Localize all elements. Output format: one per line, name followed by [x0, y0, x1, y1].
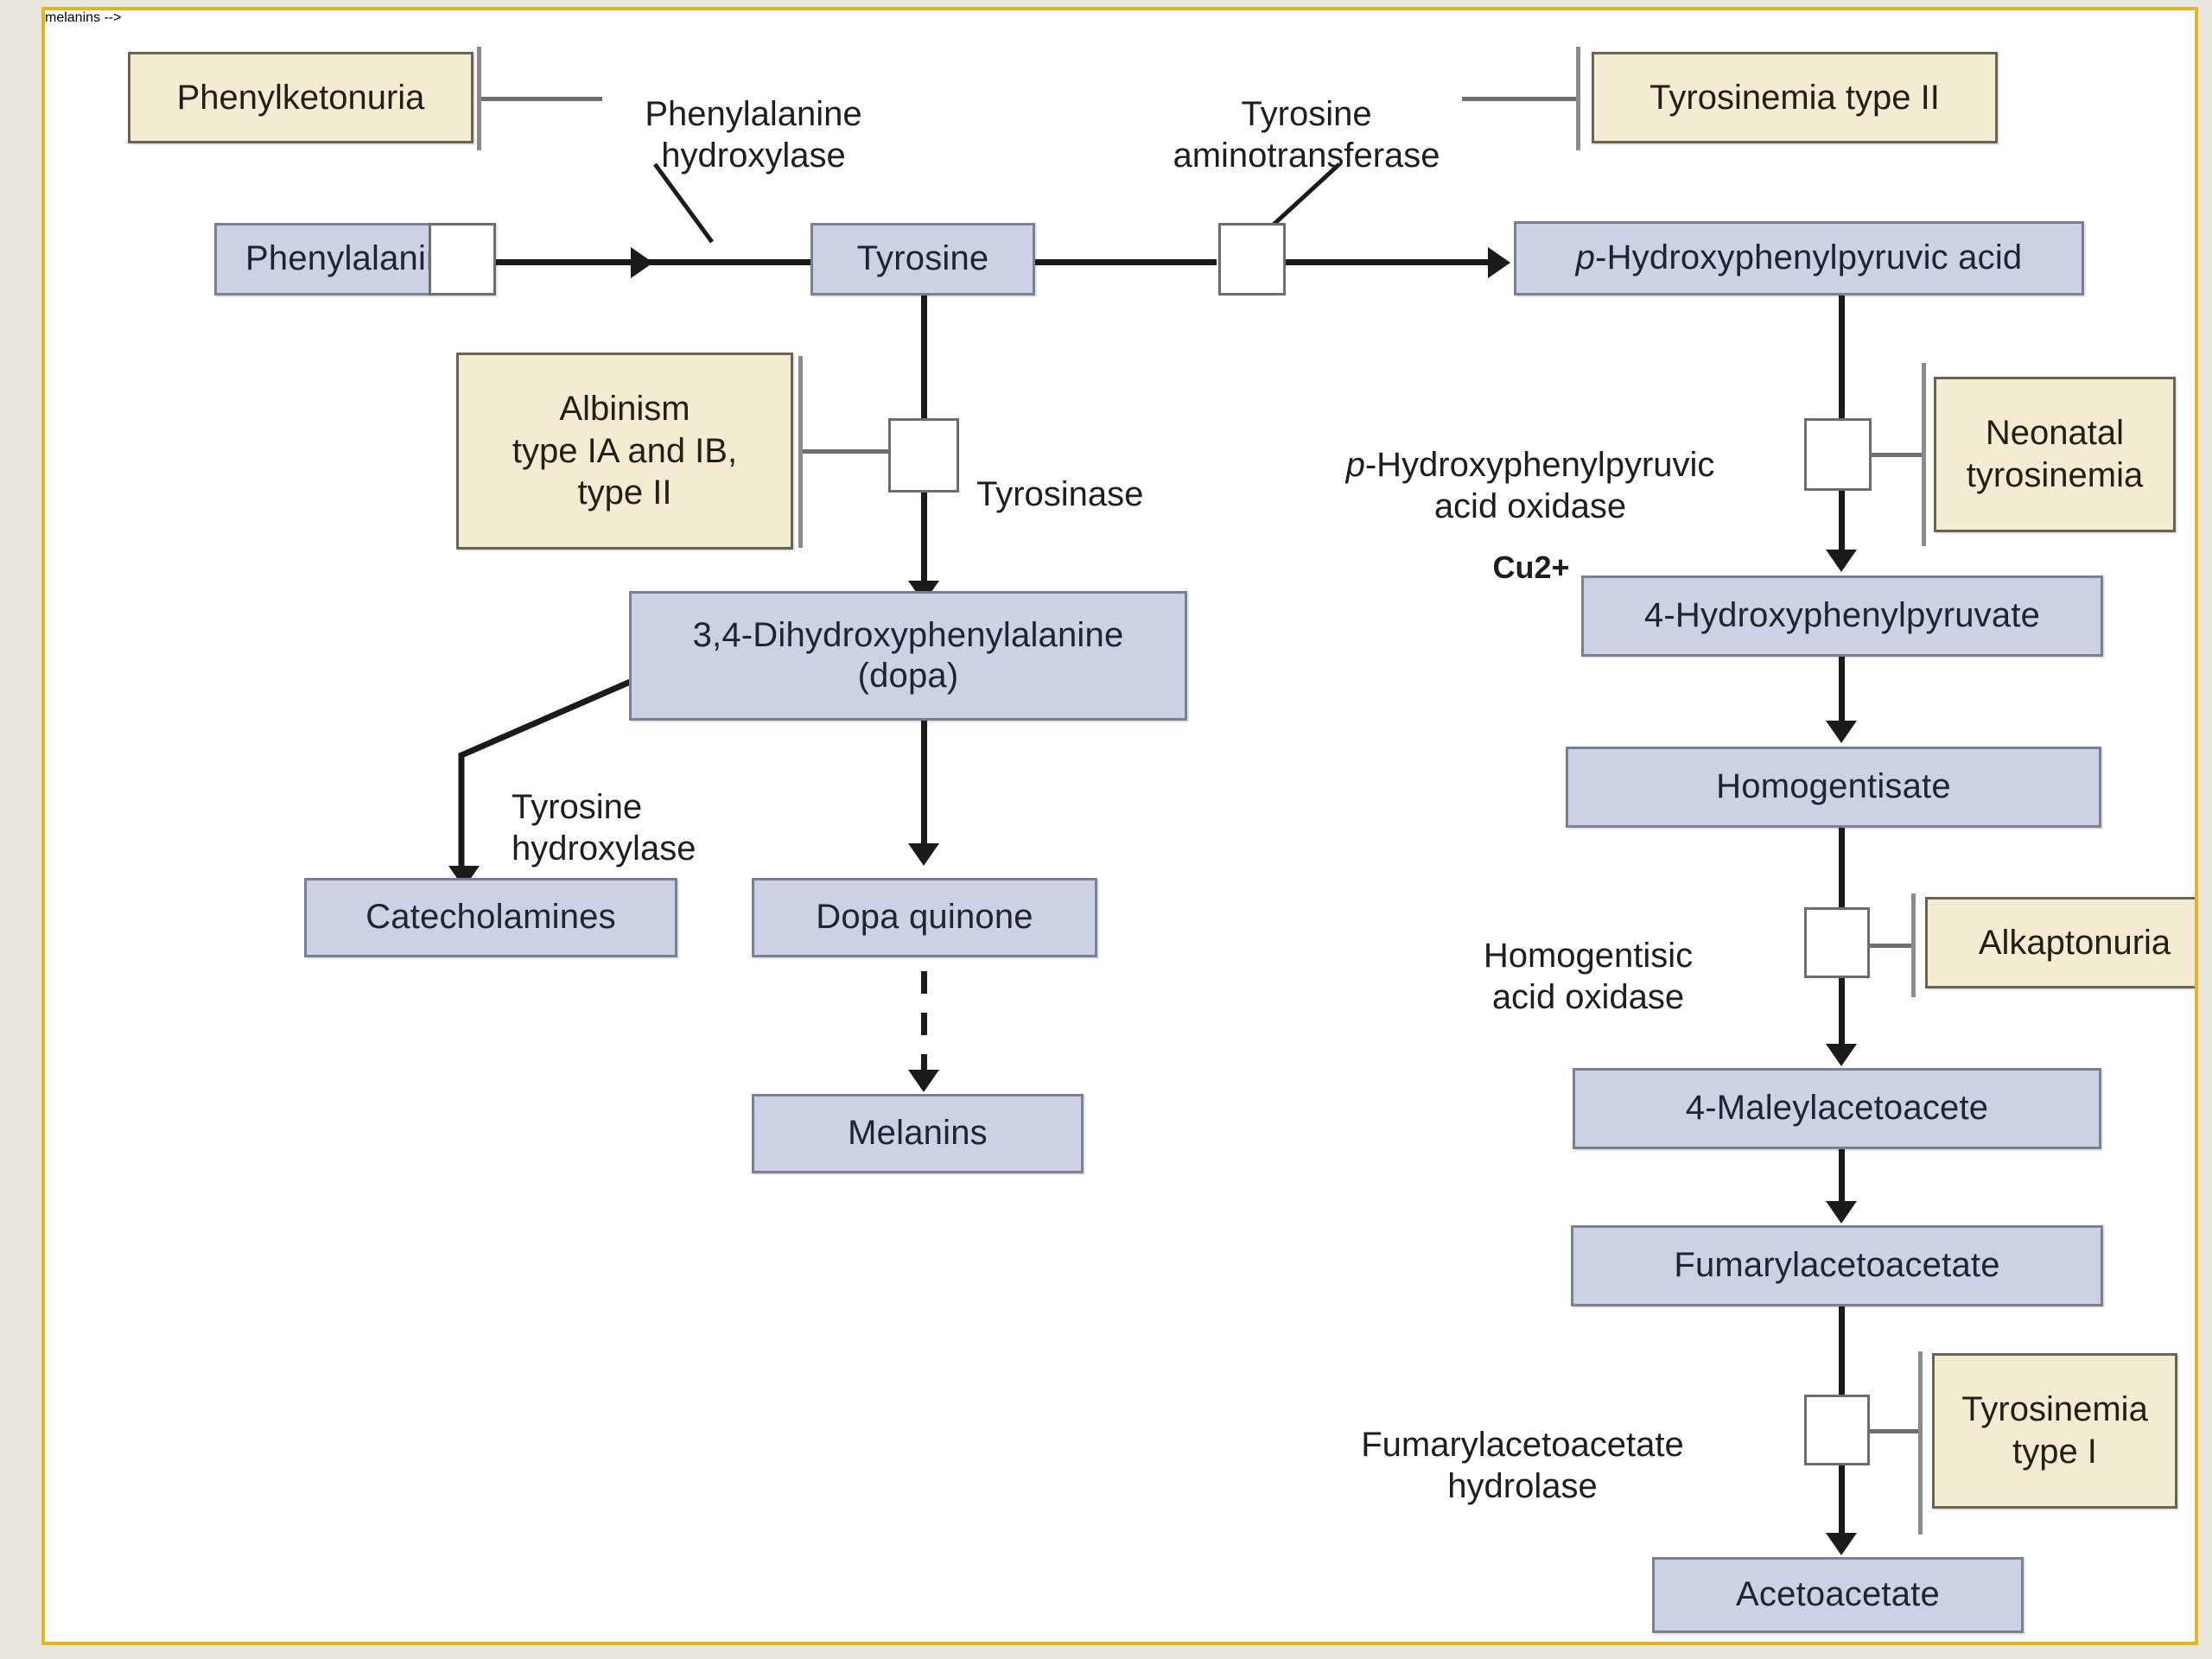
- enzyme-label-tyrosine-hydroxylase: Tyrosine hydroxylase: [512, 745, 788, 869]
- metabolite-label-homogentisate: Homogentisate: [1716, 766, 1951, 807]
- disease-label-tyrosinemia-type-i: Tyrosinemia type I: [1961, 1389, 2148, 1473]
- connector-albinism-to-gate3: [802, 449, 892, 454]
- pathway-canvas: melanins -->: [45, 10, 2195, 1642]
- connector-gate4-to-neonatal: [1870, 453, 1925, 457]
- disease-label-neonatal-tyrosinemia: Neonatal tyrosinemia: [1967, 412, 2144, 497]
- enzyme-gate-phpa-oxidase[interactable]: [1804, 418, 1872, 491]
- connector-gate3-down: [921, 491, 927, 594]
- enzyme-gate-tyrosinase[interactable]: [888, 418, 959, 493]
- metabolite-label-acetoacetate: Acetoacetate: [1736, 1574, 1940, 1615]
- metabolite-label-tyrosine: Tyrosine: [857, 238, 989, 279]
- tick-pku: [477, 47, 481, 150]
- arrow-to-phpa: [1488, 247, 1510, 278]
- metabolite-box-homogentisate[interactable]: Homogentisate: [1566, 747, 2101, 828]
- metabolite-box-dopa[interactable]: 3,4-Dihydroxyphenylalanine (dopa): [629, 591, 1187, 721]
- metabolite-label-fumarylacetoacetate: Fumarylacetoacetate: [1674, 1245, 1999, 1286]
- disease-box-tyrosinemia-type-i[interactable]: Tyrosinemia type I: [1932, 1353, 2177, 1509]
- enzyme-text-fah: Fumarylacetoacetate hydrolase: [1361, 1426, 1684, 1505]
- disease-box-alkaptonuria[interactable]: Alkaptonuria: [1925, 897, 2198, 988]
- enzyme-label-fumarylacetoacetate-hydrolase: Fumarylacetoacetate hydrolase: [1255, 1382, 1790, 1507]
- disease-label-alkaptonuria: Alkaptonuria: [1979, 922, 2171, 964]
- disease-box-neonatal-tyrosinemia[interactable]: Neonatal tyrosinemia: [1934, 377, 2176, 532]
- enzyme-label-phpa-oxidase: p-Hydroxyphenylpyruvicacid oxidase: [1281, 403, 1780, 527]
- metabolite-label-catecholamines: Catecholamines: [365, 897, 616, 938]
- enzyme-label-tyrosine-aminotransferase: Tyrosine aminotransferase: [1151, 52, 1462, 176]
- connector-gate1-to-tyr: [494, 259, 632, 265]
- enzyme-text-th: Tyrosine hydroxylase: [512, 788, 696, 868]
- enzyme-label-homogentisic-acid-oxidase: Homogentisic acid oxidase: [1389, 893, 1787, 1018]
- metabolite-box-4-hydroxyphenylpyruvate[interactable]: 4-Hydroxyphenylpyruvate: [1581, 575, 2103, 657]
- metabolite-label-p-hydroxyphenylpyruvic-acid: p-Hydroxyphenylpyruvic acid: [1576, 238, 2023, 278]
- connector-homogentisate-down-to-gate5: [1839, 828, 1845, 916]
- metabolite-box-dopa-quinone[interactable]: Dopa quinone: [752, 878, 1097, 957]
- tick-tyrosinemia1: [1918, 1351, 1923, 1535]
- arrow-to-melanins: [908, 1070, 939, 1092]
- enzyme-text-hga-oxidase: Homogentisic acid oxidase: [1484, 937, 1693, 1016]
- connector-dopaquinone-to-melanins-dashed: [921, 971, 927, 1082]
- enzyme-text-tat: Tyrosine aminotransferase: [1173, 95, 1440, 175]
- enzyme-gate-fumarylacetoacetate-hydrolase[interactable]: [1804, 1395, 1870, 1465]
- enzyme-text-pah: Phenylalanine hydroxylase: [645, 95, 861, 175]
- disease-box-albinism[interactable]: Albinism type IA and IB, type II: [456, 353, 793, 550]
- arrow-to-hpp4: [1826, 550, 1857, 572]
- tick-albinism: [798, 356, 803, 548]
- disease-label-tyrosinemia-type-ii: Tyrosinemia type II: [1649, 77, 1940, 119]
- metabolite-box-4-maleylacetoacete[interactable]: 4-Maleylacetoacete: [1573, 1068, 2101, 1149]
- metabolite-box-melanins[interactable]: Melanins: [752, 1094, 1084, 1173]
- cofactor-text-cu2plus: Cu2+: [1492, 550, 1569, 585]
- arrow-to-maleyl: [1826, 1044, 1857, 1066]
- enzyme-label-tyrosinase: Tyrosinase: [976, 432, 1236, 515]
- metabolite-box-acetoacetate[interactable]: Acetoacetate: [1652, 1557, 2024, 1633]
- tick-neonatal-tyrosinemia: [1922, 363, 1926, 546]
- connector-tat-label-to-tyrosinemia2: [1462, 97, 1580, 101]
- metabolite-label-melanins: Melanins: [848, 1113, 988, 1154]
- enzyme-gate-tyrosine-aminotransferase[interactable]: [1218, 223, 1286, 296]
- enzyme-text-tyrosinase: Tyrosinase: [976, 475, 1143, 513]
- enzyme-gate-homogentisic-acid-oxidase[interactable]: [1804, 907, 1870, 978]
- connector-gate6-to-tyrosinemia1: [1868, 1429, 1922, 1433]
- arrow-to-acetoacetate: [1826, 1533, 1857, 1555]
- tick-tyrosinemia2: [1576, 47, 1580, 150]
- cofactor-label-cu2plus: Cu2+: [1393, 512, 1669, 586]
- metabolite-box-tyrosine[interactable]: Tyrosine: [810, 223, 1035, 296]
- arrow-to-dopaquinone: [908, 843, 939, 866]
- enzyme-gate-phenylalanine-hydroxylase[interactable]: [429, 223, 496, 296]
- disease-box-tyrosinemia-type-ii[interactable]: Tyrosinemia type II: [1592, 52, 1998, 143]
- metabolite-box-fumarylacetoacetate[interactable]: Fumarylacetoacetate: [1571, 1225, 2103, 1306]
- connector-gate2-to-phpa: [1282, 259, 1490, 265]
- connector-fumaryl-down-to-gate6: [1839, 1306, 1845, 1398]
- connector-dopa-down: [921, 721, 927, 855]
- arrow-to-fumaryl: [1826, 1201, 1857, 1224]
- metabolite-box-p-hydroxyphenylpyruvic-acid[interactable]: p-Hydroxyphenylpyruvic acid: [1514, 221, 2084, 296]
- metabolite-label-4-hydroxyphenylpyruvate: 4-Hydroxyphenylpyruvate: [1644, 595, 2040, 636]
- connector-pku-to-pah-label: [481, 97, 602, 101]
- metabolite-label-4-maleylacetoacete: 4-Maleylacetoacete: [1686, 1088, 1988, 1128]
- metabolite-label-dopa: 3,4-Dihydroxyphenylalanine (dopa): [693, 615, 1124, 696]
- tick-alkaptonuria: [1911, 893, 1916, 997]
- arrow-to-tyrosine: [631, 247, 653, 278]
- connector-phpa-down-to-gate4: [1839, 296, 1845, 423]
- enzyme-label-phenylalanine-hydroxylase: Phenylalanine hydroxylase: [598, 52, 909, 176]
- disease-label-albinism: Albinism type IA and IB, type II: [512, 388, 737, 514]
- disease-label-phenylketonuria: Phenylketonuria: [177, 77, 425, 119]
- metabolite-label-dopa-quinone: Dopa quinone: [816, 897, 1033, 938]
- disease-box-phenylketonuria[interactable]: Phenylketonuria: [128, 52, 474, 143]
- metabolite-box-catecholamines[interactable]: Catecholamines: [304, 878, 677, 957]
- connector-gate5-to-alkaptonuria: [1868, 944, 1915, 948]
- arrow-to-homogentisate: [1826, 721, 1857, 743]
- diagram-frame: melanins -->: [41, 7, 2198, 1645]
